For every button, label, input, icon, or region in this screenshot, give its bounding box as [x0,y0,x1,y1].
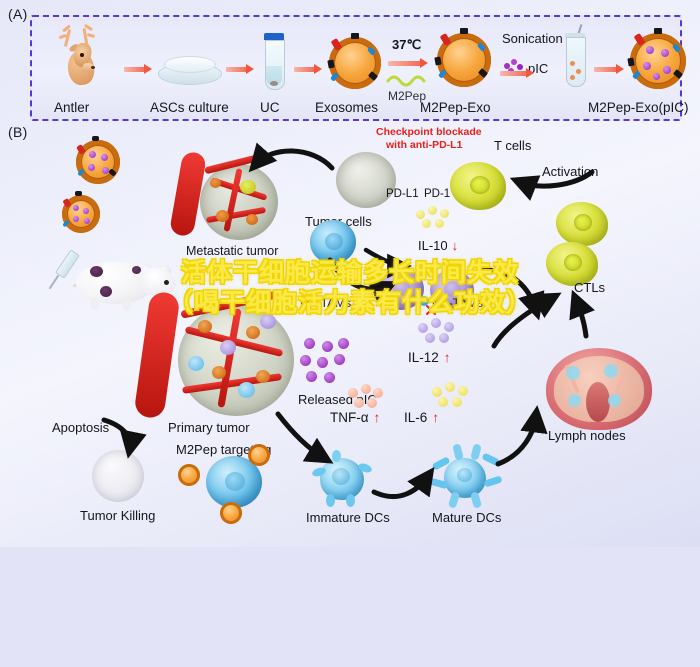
temperature-label: 37℃ [392,37,421,53]
panel-a-step-label-m2pep-exo: M2Pep-Exo [420,100,491,115]
ctl-cell-icon [556,202,608,246]
exosome-pic-loaded-icon [178,464,200,486]
exosome-icon [329,37,381,89]
process-arrow [500,69,534,78]
mature-dc-icon [432,446,500,510]
activation-label: Activation [542,164,598,179]
panel-b: Metastatic tumor Tumor cells Checkpoint … [0,120,700,547]
il-12-dots-icon [418,318,460,346]
primary-tumor-label: Primary tumor [168,420,250,435]
immature-dcs-label: Immature DCs [306,510,390,525]
panel-a-step-label-ascs: ASCs culture [150,100,229,115]
m2-tam-icon [310,220,356,264]
lymph-nodes-label: Lymph nodes [548,428,626,443]
lymph-node-icon [542,342,658,434]
il-6-dots-icon [432,382,474,410]
metastatic-tumor-icon [186,158,278,242]
t-cells-label: T cells [494,138,531,153]
process-arrow [226,65,254,74]
process-arrow [124,65,152,74]
exosome-peptide-icon [437,33,491,87]
panel-a-step-label-m2pep-exo-pic: M2Pep-Exo(pIC) [588,100,689,115]
up-arrow-icon: ↑ [444,350,451,365]
panel-a-step-label-antler: Antler [54,100,89,115]
apoptosis-label: Apoptosis [52,420,109,435]
m1-tams-label: M1-TAMs [432,296,483,310]
ctls-label: CTLs [574,280,605,295]
pd-1-label: PD-1 [424,188,450,200]
t-cell-icon [450,162,506,210]
figure-canvas: (A) Antler ASCs culture UC [0,0,700,547]
checkpoint-blockade-label: Checkpoint blockade [376,126,482,138]
deer-icon [54,25,124,95]
pd-l1-label: PD-L1 [386,188,419,200]
panel-a: Antler ASCs culture UC Exosomes 37℃ [30,15,682,121]
m1-tam-icon [378,268,424,310]
tnf-alpha-label: TNF-α↑ [330,410,380,425]
checkpoint-blockade-label-line2: with anti-PD-L1 [386,139,462,151]
process-arrow [594,65,624,74]
up-arrow-icon: ↑ [374,410,381,425]
tnf-alpha-dots-icon [348,384,388,410]
process-arrow [294,65,322,74]
petri-dish-icon [158,51,220,85]
down-arrow-icon: ↓ [452,238,459,253]
centrifuge-tube-icon [260,33,288,91]
panel-a-tag: (A) [8,6,28,22]
exosome-pic-loaded-icon [62,195,100,233]
tumor-killing-label: Tumor Killing [80,508,155,523]
panel-a-step-label-uc: UC [260,100,280,115]
primary-tumor-icon [160,296,300,428]
apoptotic-tumor-icon [92,450,144,502]
process-arrow [388,59,428,68]
il-10-label: IL-10↓ [418,238,458,253]
exosome-pic-loaded-icon [248,444,270,466]
il-10-dots-icon [416,206,456,232]
il-6-label: IL-6↑ [404,410,439,425]
m2-tams-label: M2-TAMs [300,296,351,310]
up-arrow-icon: ↑ [432,410,439,425]
il-12-label: IL-12↑ [408,350,451,365]
panel-a-step-label-exosomes: Exosomes [315,100,378,115]
exosome-pic-loaded-icon [220,502,242,524]
sonication-label: Sonication [502,31,563,46]
mature-dcs-label: Mature DCs [432,510,501,525]
immature-dc-icon [312,450,374,508]
metastatic-tumor-label: Metastatic tumor [186,244,278,258]
sonication-tube-icon [562,33,590,89]
released-pic-dots-icon [300,338,356,390]
exosome-pic-loaded-icon [76,140,120,184]
exosome-pic-loaded-icon [630,33,686,89]
